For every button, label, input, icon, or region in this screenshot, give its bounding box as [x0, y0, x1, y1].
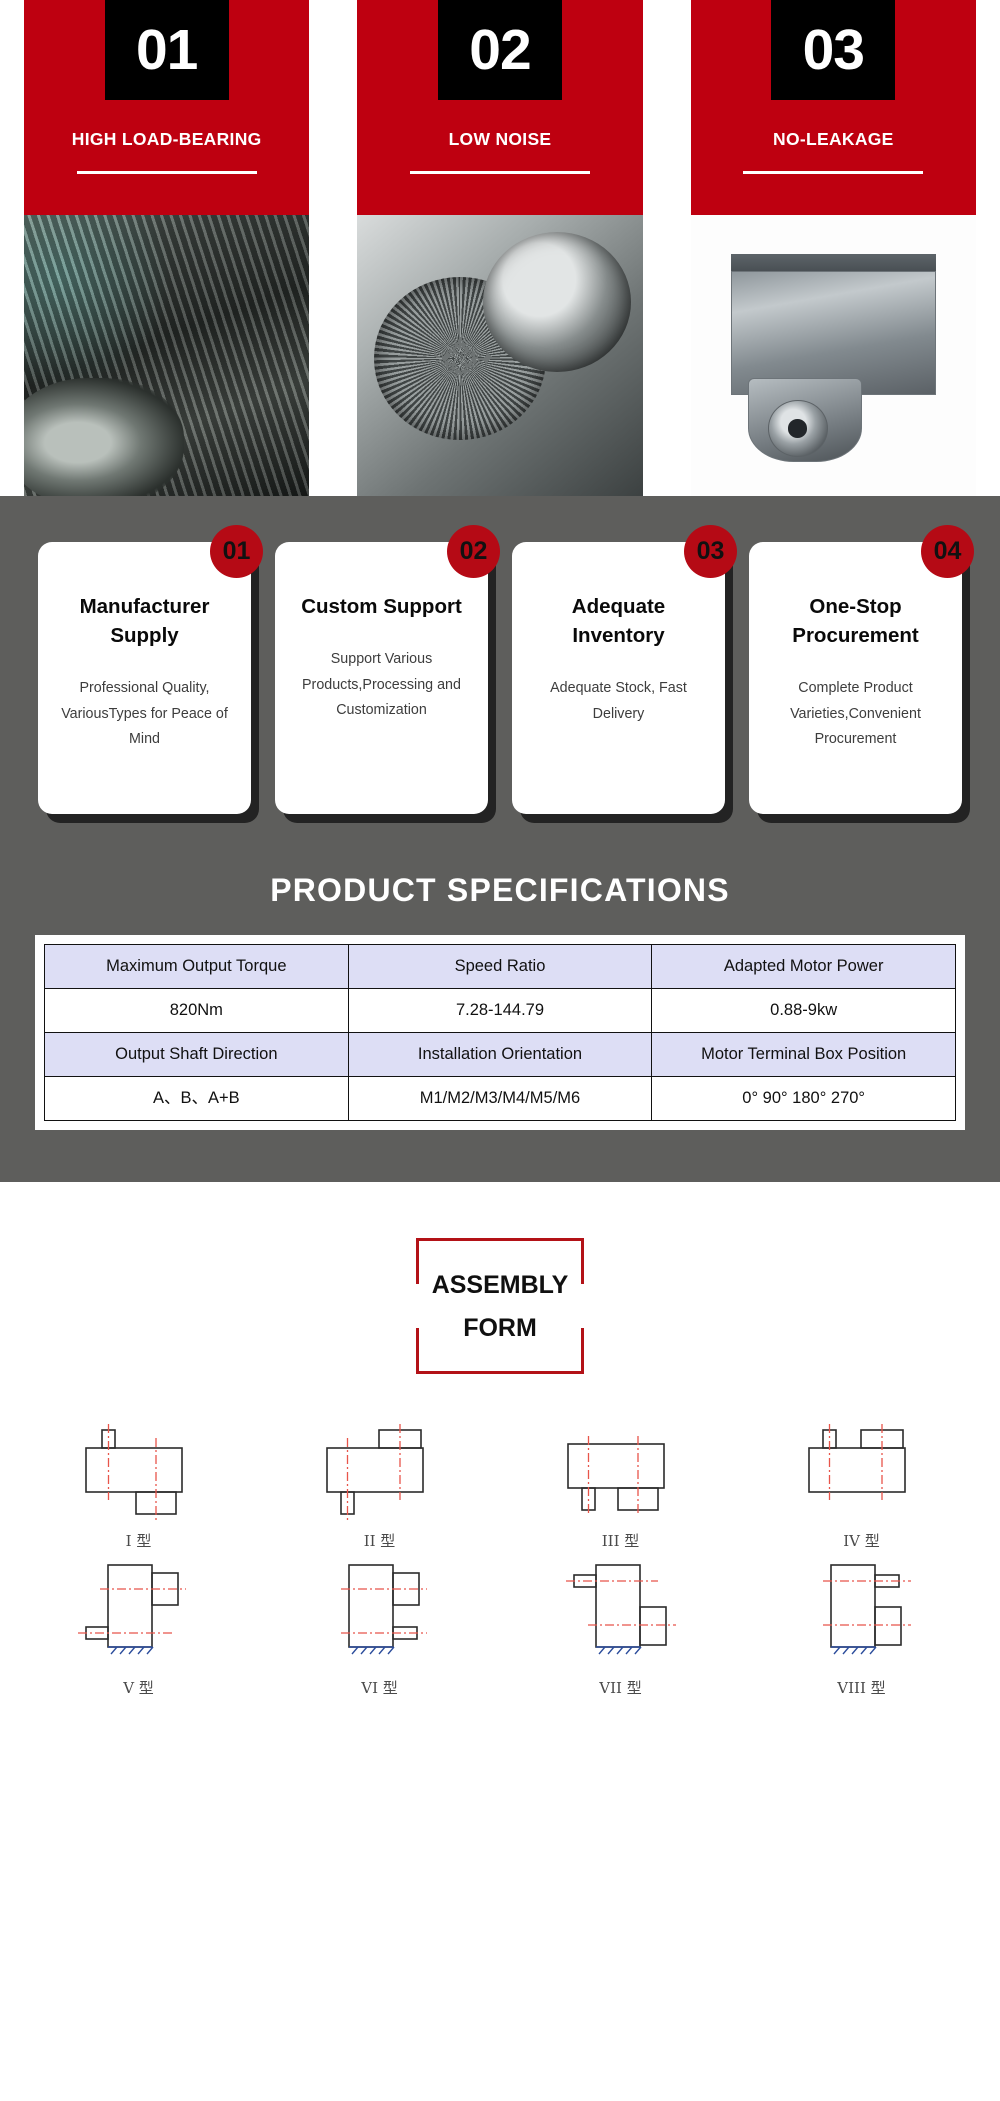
banner-divider	[743, 171, 923, 174]
assembly-diagram-label: V 型	[18, 1677, 259, 1698]
assembly-form-title-line2: FORM	[416, 1307, 584, 1350]
card-description: Professional Quality, VariousTypes for P…	[55, 676, 234, 752]
specifications-heading: PRODUCT SPECIFICATIONS	[0, 872, 1000, 909]
feature-banner-1: 01 HIGH LOAD-BEARING	[0, 0, 333, 496]
assembly-diagram-5: V 型	[18, 1555, 259, 1698]
banner-header: 03 NO-LEAKAGE	[691, 0, 976, 215]
advantage-card-4: 04 One-Stop Procurement Complete Product…	[749, 542, 962, 814]
assembly-diagram-label: III 型	[500, 1530, 741, 1551]
banner-number: 03	[803, 22, 864, 79]
table-header-cell: Adapted Motor Power	[652, 945, 956, 989]
assembly-diagram-label: I 型	[18, 1530, 259, 1551]
banner-title: NO-LEAKAGE	[773, 129, 894, 150]
assembly-diagram-1: I 型	[18, 1416, 259, 1551]
card-title: One-Stop Procurement	[766, 592, 945, 650]
advantage-card-2: 02 Custom Support Support Various Produc…	[275, 542, 488, 814]
table-data-cell: M1/M2/M3/M4/M5/M6	[348, 1077, 652, 1121]
card-description: Adequate Stock, Fast Delivery	[529, 676, 708, 727]
banner-number-box: 01	[105, 0, 229, 100]
feature-banner-section: 01 HIGH LOAD-BEARING 02 LOW NOISE	[0, 0, 1000, 496]
card-badge: 04	[921, 525, 974, 578]
card-title: Adequate Inventory	[529, 592, 708, 650]
advantage-card-1: 01 Manufacturer Supply Professional Qual…	[38, 542, 251, 814]
assembly-drawing-type-5	[64, 1555, 214, 1673]
gearbox-output-hub	[768, 400, 828, 456]
assembly-diagram-3: III 型	[500, 1416, 741, 1551]
card-badge: 03	[684, 525, 737, 578]
assembly-form-section: ASSEMBLY FORM I 型	[0, 1182, 1000, 1738]
table-header-cell: Maximum Output Torque	[45, 945, 349, 989]
advantage-cards-row: 01 Manufacturer Supply Professional Qual…	[0, 542, 1000, 814]
assembly-diagram-label: VII 型	[500, 1677, 741, 1698]
banner-divider	[77, 171, 257, 174]
assembly-form-title-line1: ASSEMBLY	[416, 1264, 584, 1307]
feature-banner-2: 02 LOW NOISE	[333, 0, 666, 496]
assembly-diagram-7: VII 型	[500, 1555, 741, 1698]
assembly-drawing-type-6	[305, 1555, 455, 1673]
banner-title: LOW NOISE	[449, 129, 552, 150]
assembly-diagram-label: II 型	[259, 1530, 500, 1551]
card-badge: 02	[447, 525, 500, 578]
table-row: 820Nm 7.28-144.79 0.88-9kw	[45, 989, 956, 1033]
card-description: Complete Product Varieties,Convenient Pr…	[766, 676, 945, 752]
table-data-cell: 0.88-9kw	[652, 989, 956, 1033]
assembly-diagram-label: VIII 型	[741, 1677, 982, 1698]
advantages-and-specs-section: 01 Manufacturer Supply Professional Qual…	[0, 496, 1000, 1182]
banner-header: 01 HIGH LOAD-BEARING	[24, 0, 309, 215]
banner-number-box: 03	[771, 0, 895, 100]
card-title: Manufacturer Supply	[55, 592, 234, 650]
assembly-diagram-grid: I 型 II 型	[0, 1416, 1000, 1698]
assembly-diagram-label: IV 型	[741, 1530, 982, 1551]
table-data-cell: 7.28-144.79	[348, 989, 652, 1033]
card-badge: 01	[210, 525, 263, 578]
table-header-cell: Output Shaft Direction	[45, 1033, 349, 1077]
table-data-cell: 820Nm	[45, 989, 349, 1033]
banner-number: 01	[136, 22, 197, 79]
assembly-diagram-4: IV 型	[741, 1416, 982, 1551]
table-row: Output Shaft Direction Installation Orie…	[45, 1033, 956, 1077]
gearbox-housing	[731, 271, 936, 395]
banner-number: 02	[469, 22, 530, 79]
assembly-diagram-8: VIII 型	[741, 1555, 982, 1698]
table-header-cell: Installation Orientation	[348, 1033, 652, 1077]
assembly-drawing-type-4	[787, 1416, 937, 1526]
card-description: Support Various Products,Processing and …	[292, 647, 471, 723]
feature-banner-3: 03 NO-LEAKAGE	[667, 0, 1000, 496]
banner-header: 02 LOW NOISE	[357, 0, 642, 215]
assembly-form-title-frame: ASSEMBLY FORM	[416, 1238, 584, 1374]
assembly-drawing-type-2	[305, 1416, 455, 1526]
table-header-cell: Motor Terminal Box Position	[652, 1033, 956, 1077]
advantage-card-3: 03 Adequate Inventory Adequate Stock, Fa…	[512, 542, 725, 814]
helical-gear-stack-photo	[24, 215, 309, 496]
banner-title: HIGH LOAD-BEARING	[72, 129, 262, 150]
table-data-cell: A、B、A+B	[45, 1077, 349, 1121]
card-title: Custom Support	[292, 592, 471, 621]
assembly-drawing-type-7	[546, 1555, 696, 1673]
table-row: A、B、A+B M1/M2/M3/M4/M5/M6 0° 90° 180° 27…	[45, 1077, 956, 1121]
banner-divider	[410, 171, 590, 174]
assembly-drawing-type-8	[787, 1555, 937, 1673]
assembly-drawing-type-3	[546, 1416, 696, 1526]
table-data-cell: 0° 90° 180° 270°	[652, 1077, 956, 1121]
gearbox-unit-photo	[691, 215, 976, 496]
assembly-drawing-type-1	[64, 1416, 214, 1526]
table-row: Maximum Output Torque Speed Ratio Adapte…	[45, 945, 956, 989]
table-header-cell: Speed Ratio	[348, 945, 652, 989]
specifications-table-frame: Maximum Output Torque Speed Ratio Adapte…	[35, 935, 965, 1130]
specifications-table: Maximum Output Torque Speed Ratio Adapte…	[44, 944, 956, 1121]
banner-number-box: 02	[438, 0, 562, 100]
bearing-rings-photo	[357, 215, 642, 496]
assembly-diagram-label: VI 型	[259, 1677, 500, 1698]
assembly-diagram-6: VI 型	[259, 1555, 500, 1698]
assembly-diagram-2: II 型	[259, 1416, 500, 1551]
